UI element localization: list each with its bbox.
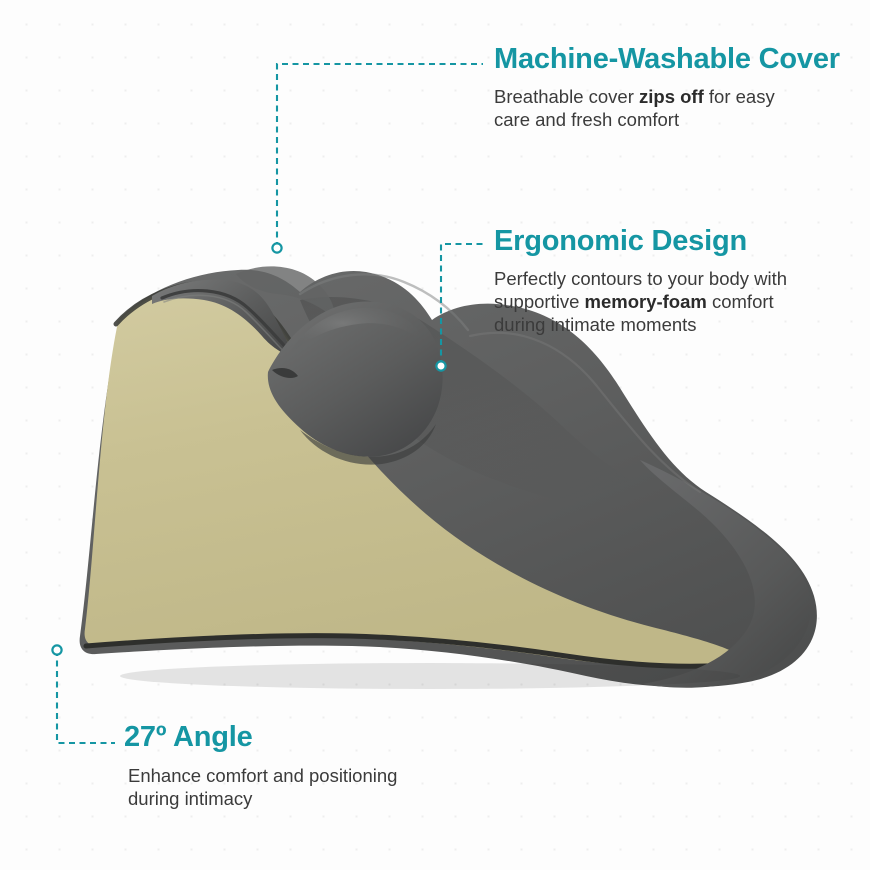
callout-title-angle: 27º Angle	[124, 722, 454, 752]
callout-title-ergonomic: Ergonomic Design	[494, 226, 814, 256]
leader-line-angle	[57, 650, 115, 743]
ergonomic-body-emphasis: memory-foam	[585, 291, 707, 312]
washable-body-line-2: care and fresh comfort	[494, 109, 679, 130]
callout-body-ergonomic: Perfectly contours to your body with sup…	[494, 268, 814, 336]
callout-ergonomic-design: Ergonomic Design Perfectly contours to y…	[494, 226, 814, 336]
washable-body-part-2: for easy	[704, 86, 775, 107]
angle-body-line-1: Enhance comfort and positioning	[128, 765, 397, 786]
callout-body-angle: Enhance comfort and positioning during i…	[128, 765, 454, 810]
ergonomic-body-line-1: Perfectly contours to your body with	[494, 268, 787, 289]
ergonomic-body-line-3: during intimate moments	[494, 314, 697, 335]
ergonomic-body-part-2: comfort	[707, 291, 774, 312]
leader-line-machine-washable	[277, 64, 483, 248]
callout-angle: 27º Angle Enhance comfort and positionin…	[124, 722, 454, 811]
leader-marker-machine-washable	[272, 243, 281, 252]
callout-machine-washable-cover: Machine-Washable Cover Breathable cover …	[494, 44, 824, 132]
ergonomic-body-part-1: supportive	[494, 291, 585, 312]
leader-line-ergonomic	[441, 244, 483, 366]
washable-body-emphasis: zips off	[639, 86, 704, 107]
leader-marker-angle	[52, 645, 61, 654]
angle-body-line-2: during intimacy	[128, 788, 252, 809]
callout-body-machine-washable: Breathable cover zips off for easy care …	[494, 86, 824, 131]
infographic-canvas: Machine-Washable Cover Breathable cover …	[0, 0, 870, 870]
callout-title-machine-washable: Machine-Washable Cover	[494, 44, 824, 74]
washable-body-part-1: Breathable cover	[494, 86, 639, 107]
leader-marker-ergonomic	[436, 361, 445, 370]
